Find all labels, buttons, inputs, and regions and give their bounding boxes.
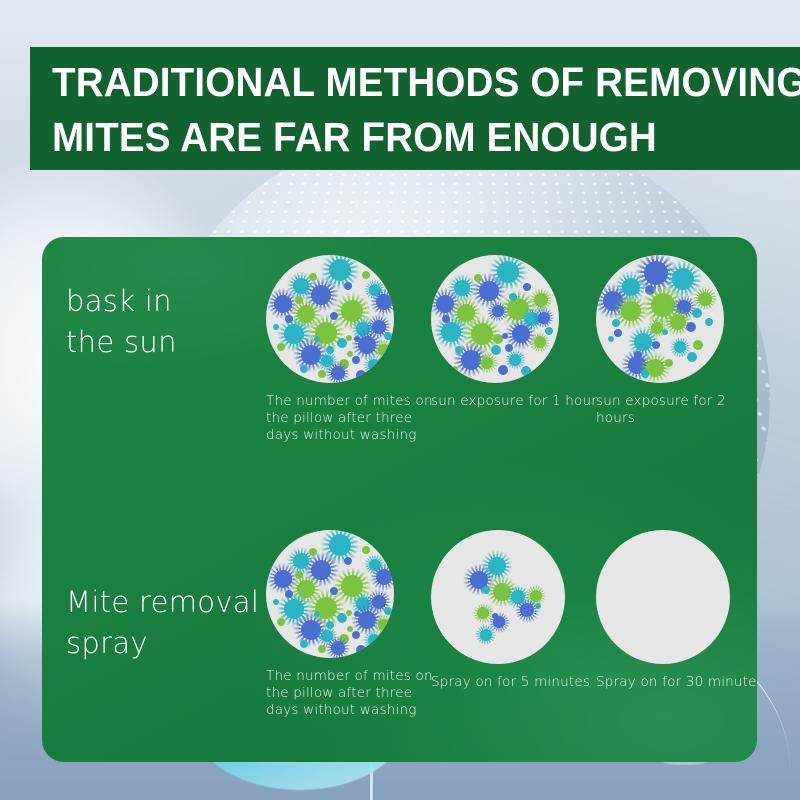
mite-speck bbox=[344, 557, 352, 565]
mite-speck bbox=[378, 344, 390, 356]
cell-spray-30-minutes: Spray on for 30 minutes bbox=[596, 530, 756, 691]
mite-speck bbox=[493, 334, 503, 344]
mite-speck bbox=[309, 548, 317, 556]
mite-spikes bbox=[370, 563, 394, 591]
mite-speck bbox=[442, 315, 450, 323]
mite-speck bbox=[474, 274, 482, 282]
mite-speck bbox=[634, 333, 652, 351]
mite-speck bbox=[356, 645, 366, 655]
mite-spikes bbox=[363, 355, 384, 376]
cell-sun-baseline: The number of mites on the pillow after … bbox=[266, 255, 426, 444]
mite-speck bbox=[480, 629, 492, 641]
mite-speck bbox=[352, 356, 360, 364]
mite-spikes bbox=[370, 288, 394, 316]
mite-speck bbox=[670, 314, 686, 330]
mite-speck bbox=[331, 641, 345, 655]
row-label-line-2: the sun bbox=[66, 322, 286, 363]
cell-spray-5-minutes: Spray on for 5 minutes bbox=[431, 530, 591, 691]
mite-speck bbox=[520, 603, 534, 617]
mite-speck bbox=[477, 607, 489, 619]
mite-speck bbox=[686, 322, 696, 332]
cell-spray-baseline: The number of mites on the pillow after … bbox=[266, 530, 426, 719]
mite-speck bbox=[672, 268, 694, 290]
mite-speck bbox=[314, 336, 320, 342]
mite-speck bbox=[687, 352, 697, 362]
mite-speck bbox=[376, 569, 392, 585]
mite-speck bbox=[277, 343, 285, 351]
mite-speck bbox=[498, 365, 508, 375]
caption-sun-1-hour: sun exposure for 1 hour bbox=[431, 393, 601, 410]
title-line-1: TRADITIONAL METHODS OF REMOVING bbox=[52, 55, 755, 110]
mite-speck bbox=[329, 534, 351, 556]
mite-speck bbox=[347, 626, 353, 632]
mite-speck bbox=[318, 645, 326, 653]
mite-speck bbox=[674, 341, 686, 353]
mite-speck bbox=[608, 336, 614, 342]
row-bask-in-the-sun: bask in the sun The number of mites on t… bbox=[42, 237, 757, 499]
mite-speck bbox=[295, 296, 303, 304]
row-label-bask-in-the-sun: bask in the sun bbox=[66, 281, 286, 363]
mite-speck bbox=[331, 366, 345, 380]
mite-speck bbox=[285, 315, 293, 323]
mite-speck bbox=[545, 327, 553, 335]
mite-dish-sun-baseline bbox=[266, 255, 394, 383]
cell-sun-2-hours: sun exposure for 2 hours bbox=[596, 255, 756, 427]
mite-speck bbox=[384, 607, 392, 615]
mite-speck bbox=[277, 618, 285, 626]
mite-spikes bbox=[325, 361, 350, 384]
row-mite-removal-spray: Mite removal spray The number of mites o… bbox=[42, 500, 757, 762]
mite-speck bbox=[698, 292, 712, 306]
mite-spikes bbox=[477, 352, 498, 373]
caption-sun-2-hours: sun exposure for 2 hours bbox=[596, 393, 757, 427]
infographic-poster: TRADITIONAL METHODS OF REMOVING MITES AR… bbox=[0, 0, 800, 800]
mite-speck bbox=[452, 366, 458, 372]
mite-speck bbox=[295, 571, 303, 579]
mite-speck bbox=[479, 281, 499, 301]
row-label-line-1: Mite removal bbox=[66, 582, 286, 623]
mite-speck bbox=[368, 359, 380, 371]
mite-speck bbox=[493, 616, 505, 628]
mite-speck bbox=[362, 546, 370, 554]
caption-spray-baseline: The number of mites on the pillow after … bbox=[266, 668, 436, 719]
mite-speck bbox=[535, 603, 541, 609]
mite-speck bbox=[665, 359, 673, 367]
mite-speck bbox=[621, 301, 641, 321]
mite-spikes bbox=[515, 598, 540, 623]
mite-speck bbox=[538, 312, 550, 324]
mite-spikes bbox=[639, 352, 671, 383]
mite-speck bbox=[641, 370, 649, 378]
mite-spikes bbox=[475, 624, 496, 645]
mite-speck bbox=[309, 273, 317, 281]
mite-speck bbox=[300, 365, 308, 373]
mite-speck bbox=[368, 634, 380, 646]
mite-speck bbox=[441, 322, 461, 342]
mite-speck bbox=[378, 619, 390, 631]
mite-speck bbox=[352, 631, 360, 639]
mite-dish-spray-baseline bbox=[266, 530, 394, 658]
mite-speck bbox=[314, 611, 320, 617]
mite-spikes bbox=[529, 332, 550, 353]
mite-speck bbox=[274, 295, 292, 313]
comparison-panel: bask in the sun The number of mites on t… bbox=[42, 237, 757, 762]
mite-speck bbox=[273, 599, 279, 605]
mite-speck bbox=[662, 329, 668, 335]
mite-speck bbox=[481, 357, 493, 369]
mite-speck bbox=[273, 324, 279, 330]
mite-speck bbox=[384, 332, 392, 340]
row-label-line-1: bask in bbox=[66, 281, 286, 322]
mite-speck bbox=[612, 319, 620, 327]
mite-speck bbox=[523, 283, 531, 291]
mite-speck bbox=[614, 329, 622, 337]
title-banner: TRADITIONAL METHODS OF REMOVING MITES AR… bbox=[30, 47, 800, 170]
mite-speck bbox=[509, 293, 517, 301]
mite-spikes bbox=[325, 636, 350, 659]
mite-speck bbox=[512, 325, 530, 343]
mite-speck bbox=[652, 341, 660, 349]
mite-speck bbox=[362, 271, 370, 279]
mite-speck bbox=[329, 259, 351, 281]
mite-speck bbox=[492, 305, 504, 317]
mite-speck bbox=[274, 570, 292, 588]
mite-dish-spray-30-minutes bbox=[596, 530, 730, 664]
mite-speck bbox=[285, 590, 293, 598]
row-label-line-2: spray bbox=[66, 623, 286, 664]
mite-speck bbox=[482, 586, 490, 594]
cell-sun-1-hour: sun exposure for 1 hour bbox=[431, 255, 591, 410]
mite-speck bbox=[693, 340, 703, 350]
caption-spray-5-minutes: Spray on for 5 minutes bbox=[431, 674, 601, 691]
mite-dish-spray-5-minutes bbox=[431, 530, 565, 664]
mite-dish-sun-1-hour bbox=[431, 255, 559, 383]
caption-spray-30-minutes: Spray on for 30 minutes bbox=[596, 674, 757, 691]
mite-speck bbox=[455, 346, 463, 354]
mite-speck bbox=[376, 294, 392, 310]
mite-spikes bbox=[533, 307, 554, 328]
row-label-mite-removal-spray: Mite removal spray bbox=[66, 582, 286, 664]
mite-speck bbox=[330, 587, 338, 595]
mite-speck bbox=[344, 282, 352, 290]
mite-speck bbox=[337, 338, 347, 348]
mite-speck bbox=[347, 351, 353, 357]
mite-speck bbox=[692, 308, 702, 318]
mite-speck bbox=[705, 318, 713, 326]
mite-speck bbox=[337, 613, 347, 623]
title-line-2: MITES ARE FAR FROM ENOUGH bbox=[52, 110, 755, 165]
mite-speck bbox=[300, 640, 308, 648]
mite-speck bbox=[471, 323, 493, 345]
mite-speck bbox=[330, 312, 338, 320]
mite-spikes bbox=[363, 630, 384, 651]
mite-speck bbox=[521, 366, 531, 376]
mite-speck bbox=[318, 370, 326, 378]
mite-speck bbox=[509, 354, 521, 366]
mite-speck bbox=[534, 336, 546, 348]
mite-speck bbox=[534, 293, 548, 307]
mite-dish-sun-2-hours bbox=[596, 255, 724, 383]
caption-sun-baseline: The number of mites on the pillow after … bbox=[266, 393, 436, 444]
mite-speck bbox=[356, 370, 366, 380]
